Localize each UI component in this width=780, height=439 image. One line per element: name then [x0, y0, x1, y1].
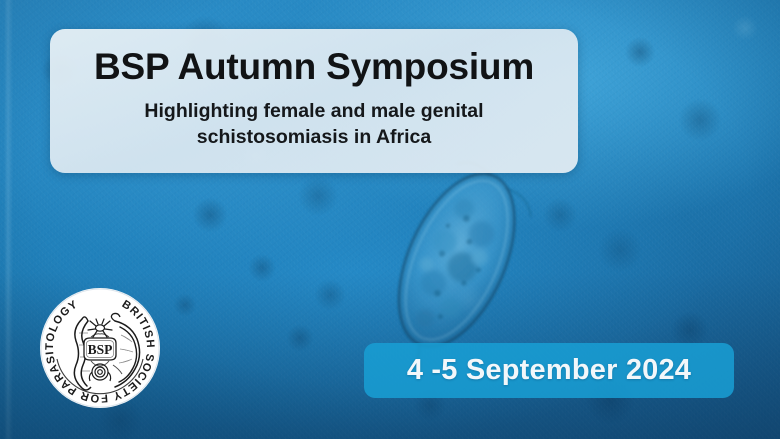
logo-center-text: BSP [88, 342, 113, 357]
title-card: BSP Autumn Symposium Highlighting female… [50, 29, 578, 173]
date-banner: 4 -5 September 2024 [364, 343, 734, 398]
bsp-logo: BRITISH SOCIETY FOR PARASITOLOGY [39, 287, 161, 409]
event-date-text: 4 -5 September 2024 [407, 354, 691, 387]
poster-subtitle-line-1: Highlighting female and male genital [144, 100, 483, 122]
poster-subtitle: Highlighting female and male genital sch… [144, 98, 483, 151]
symposium-poster: BSP Autumn Symposium Highlighting female… [0, 0, 780, 439]
poster-title: BSP Autumn Symposium [94, 47, 534, 87]
poster-subtitle-line-2: schistosomiasis in Africa [197, 126, 431, 148]
